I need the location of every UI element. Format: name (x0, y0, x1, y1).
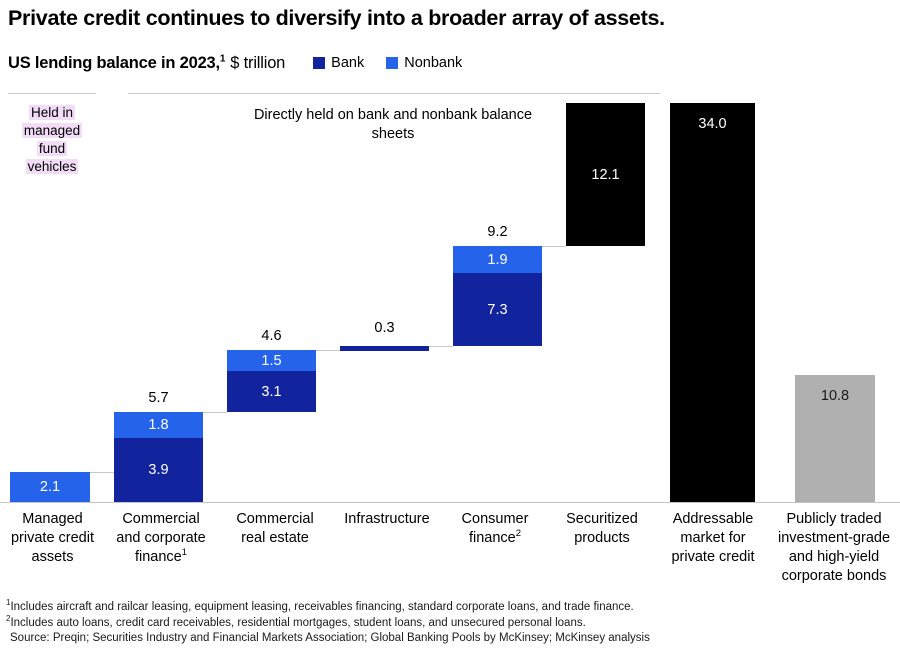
bar-value-label: 10.8 (821, 388, 849, 404)
footnote-text: Includes aircraft and railcar leasing, e… (10, 601, 633, 613)
annotation-held-in-managed-fund-vehicles: Held in managed fund vehicles (12, 104, 92, 176)
category-footnote-marker: 1 (182, 547, 187, 558)
category-label-line: Consumer (443, 510, 547, 529)
bar-segment-bank[interactable]: 3.9 (114, 438, 203, 502)
category-label-addressable-market: Addressable market for private credit (657, 510, 769, 567)
bar-total-label: 9.2 (453, 224, 542, 240)
category-label-line: assets (0, 548, 105, 567)
bar-segment-nonbank[interactable]: 1.8 (114, 412, 203, 438)
bar-value-label: 2.1 (40, 479, 60, 495)
bar-total-label: 4.6 (227, 328, 316, 344)
bar-commercial-real-estate[interactable]: 4.6 1.5 3.1 (227, 350, 316, 412)
bar-managed-private-credit-assets[interactable]: 2.1 (10, 472, 90, 502)
chart-baseline (0, 502, 900, 503)
bar-segment-bank[interactable] (340, 346, 429, 351)
category-label-line: and corporate (106, 529, 216, 548)
bar-segment-total[interactable]: 12.1 (566, 103, 645, 246)
category-label-text: finance (469, 530, 516, 546)
category-label-text: finance (135, 549, 182, 565)
category-label-line: Infrastructure (328, 510, 446, 529)
footnote-1: 1Includes aircraft and railcar leasing, … (6, 600, 896, 616)
bar-publicly-traded-corporate-bonds[interactable]: 10.8 (795, 375, 875, 502)
source-line: Source: Preqin; Securities Industry and … (6, 631, 896, 647)
bar-segment-total[interactable]: 34.0 (670, 103, 755, 502)
category-label-consumer-finance: Consumer finance2 (443, 510, 547, 548)
category-footnote-marker: 2 (516, 528, 521, 539)
bar-commercial-and-corporate-finance[interactable]: 5.7 1.8 3.9 (114, 412, 203, 502)
bar-infrastructure[interactable]: 0.3 (340, 346, 429, 351)
bar-segment-bank[interactable]: 7.3 (453, 273, 542, 346)
category-label-line: products (550, 529, 654, 548)
bar-value-label: 3.9 (148, 462, 168, 478)
category-label-line: corporate bonds (768, 567, 900, 586)
bar-segment-bank[interactable]: 3.1 (227, 371, 316, 412)
bar-value-label: 3.1 (261, 384, 281, 400)
bar-addressable-market-private-credit[interactable]: 34.0 (670, 103, 755, 502)
category-label-commercial-real-estate: Commercial real estate (220, 510, 330, 548)
category-label-line: investment-grade (768, 529, 900, 548)
bar-value-label: 12.1 (591, 167, 619, 183)
category-label-line: real estate (220, 529, 330, 548)
category-label-line: and high-yield (768, 548, 900, 567)
category-label-line: Securitized (550, 510, 654, 529)
waterfall-connector (316, 350, 340, 351)
annotation-held-text: Held in managed fund vehicles (22, 105, 82, 174)
category-label-infrastructure: Infrastructure (328, 510, 446, 529)
bar-total-label: 5.7 (114, 390, 203, 406)
category-label-commercial-and-corporate-finance: Commercial and corporate finance1 (106, 510, 216, 567)
bar-securitized-products[interactable]: 12.1 (566, 103, 645, 246)
category-label-line: market for (657, 529, 769, 548)
bar-value-label: 1.5 (261, 353, 281, 369)
category-label-line: finance1 (106, 548, 216, 567)
bar-value-label: 34.0 (698, 116, 726, 132)
category-label-line: private credit (657, 548, 769, 567)
annotation-directly-held: Directly held on bank and nonbank balanc… (238, 106, 548, 144)
category-label-line: Publicly traded (768, 510, 900, 529)
bar-segment-total[interactable]: 10.8 (795, 375, 875, 502)
waterfall-connector (203, 412, 227, 413)
bar-value-label: 1.9 (487, 252, 507, 268)
bar-total-label: 0.3 (340, 320, 429, 336)
category-label-line: finance2 (443, 529, 547, 548)
category-label-line: Commercial (106, 510, 216, 529)
category-label-line: private credit (0, 529, 105, 548)
footnote-text: Includes auto loans, credit card receiva… (10, 617, 585, 629)
chart-plot-area: Held in managed fund vehicles Directly h… (0, 0, 900, 510)
bar-segment-nonbank[interactable]: 1.5 (227, 350, 316, 371)
top-rule-right (128, 93, 660, 94)
waterfall-connector (90, 472, 114, 473)
waterfall-connector (429, 346, 453, 347)
top-rule-left (8, 93, 96, 94)
footnote-2: 2Includes auto loans, credit card receiv… (6, 616, 896, 632)
category-label-managed-private-credit-assets: Managed private credit assets (0, 510, 105, 567)
bar-segment-nonbank[interactable]: 1.9 (453, 246, 542, 273)
footnotes: 1Includes aircraft and railcar leasing, … (6, 600, 896, 647)
category-label-line: Addressable (657, 510, 769, 529)
category-label-line: Commercial (220, 510, 330, 529)
category-label-publicly-traded-bonds: Publicly traded investment-grade and hig… (768, 510, 900, 586)
waterfall-connector (542, 246, 566, 247)
category-label-securitized-products: Securitized products (550, 510, 654, 548)
bar-consumer-finance[interactable]: 9.2 1.9 7.3 (453, 246, 542, 346)
bar-segment-nonbank[interactable]: 2.1 (10, 472, 90, 502)
bar-value-label: 7.3 (487, 302, 507, 318)
category-label-line: Managed (0, 510, 105, 529)
bar-value-label: 1.8 (148, 417, 168, 433)
